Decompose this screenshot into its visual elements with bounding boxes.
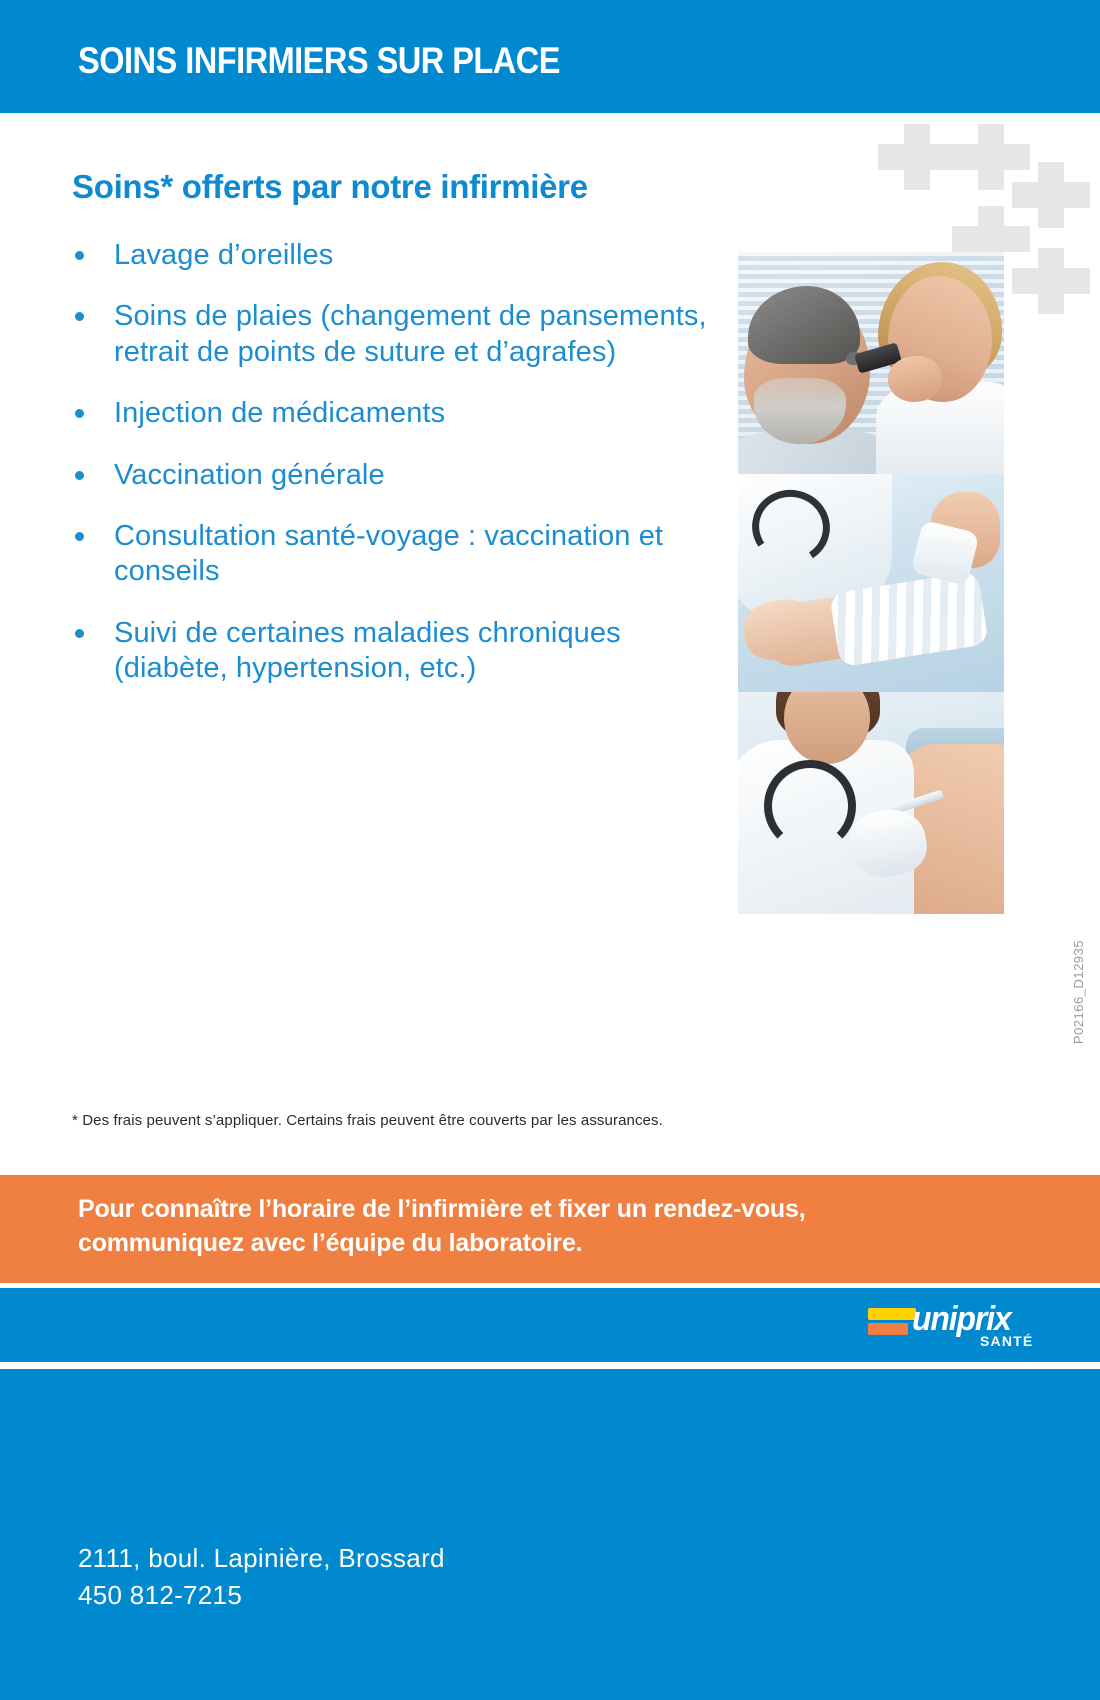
cta-line-2: communiquez avec l’équipe du laboratoire… bbox=[78, 1226, 1038, 1260]
list-item: Injection de médicaments bbox=[72, 396, 732, 431]
ear-exam-photo bbox=[738, 252, 1004, 474]
footnote-text: * Des frais peuvent s’appliquer. Certain… bbox=[72, 1112, 663, 1129]
services-list: Lavage d’oreilles Soins de plaies (chang… bbox=[72, 238, 732, 712]
footer-panel bbox=[0, 1369, 1100, 1700]
uniprix-logo: uniprix SANTÉ bbox=[868, 1300, 1038, 1352]
photo-column bbox=[738, 252, 1004, 914]
contact-info: 2111, boul. Lapinière, Brossard 450 812-… bbox=[78, 1540, 445, 1614]
vaccination-photo bbox=[738, 692, 1004, 914]
poster-root: SOINS INFIRMIERS SUR PLACE Soins* offert… bbox=[0, 0, 1100, 1700]
bullet-dot-icon bbox=[75, 532, 84, 541]
list-item: Vaccination générale bbox=[72, 458, 732, 493]
band-divider bbox=[0, 1362, 1100, 1369]
logo-bar-orange bbox=[868, 1323, 908, 1335]
list-item: Consultation santé-voyage : vaccination … bbox=[72, 519, 732, 590]
bullet-dot-icon bbox=[75, 312, 84, 321]
list-item-label: Vaccination générale bbox=[114, 459, 385, 491]
section-heading: Soins* offerts par notre infirmière bbox=[72, 168, 588, 206]
list-item-label: Soins de plaies (changement de pansement… bbox=[114, 300, 707, 367]
cta-line-1: Pour connaître l’horaire de l’infirmière… bbox=[78, 1192, 1038, 1226]
bullet-dot-icon bbox=[75, 409, 84, 418]
list-item-label: Lavage d’oreilles bbox=[114, 239, 333, 271]
document-reference-code: P02166_D12935 bbox=[1071, 940, 1086, 1044]
bullet-dot-icon bbox=[75, 471, 84, 480]
stethoscope-icon bbox=[764, 760, 856, 852]
cta-message: Pour connaître l’horaire de l’infirmière… bbox=[78, 1192, 1038, 1260]
address-line: 2111, boul. Lapinière, Brossard bbox=[78, 1540, 445, 1577]
list-item: Soins de plaies (changement de pansement… bbox=[72, 299, 732, 370]
list-item-label: Consultation santé-voyage : vaccination … bbox=[114, 520, 663, 587]
logo-bar-yellow bbox=[868, 1308, 916, 1320]
logo-bars-icon bbox=[868, 1308, 916, 1338]
logo-subtitle: SANTÉ bbox=[980, 1333, 1033, 1349]
list-item-label: Suivi de certaines maladies chroniques (… bbox=[114, 617, 621, 684]
phone-number: 450 812-7215 bbox=[78, 1577, 445, 1614]
bullet-dot-icon bbox=[75, 629, 84, 638]
bullet-dot-icon bbox=[75, 251, 84, 260]
list-item-label: Injection de médicaments bbox=[114, 397, 445, 429]
list-item: Suivi de certaines maladies chroniques (… bbox=[72, 616, 732, 687]
wound-care-photo bbox=[738, 474, 1004, 692]
list-item: Lavage d’oreilles bbox=[72, 238, 732, 273]
page-title: SOINS INFIRMIERS SUR PLACE bbox=[78, 40, 560, 82]
